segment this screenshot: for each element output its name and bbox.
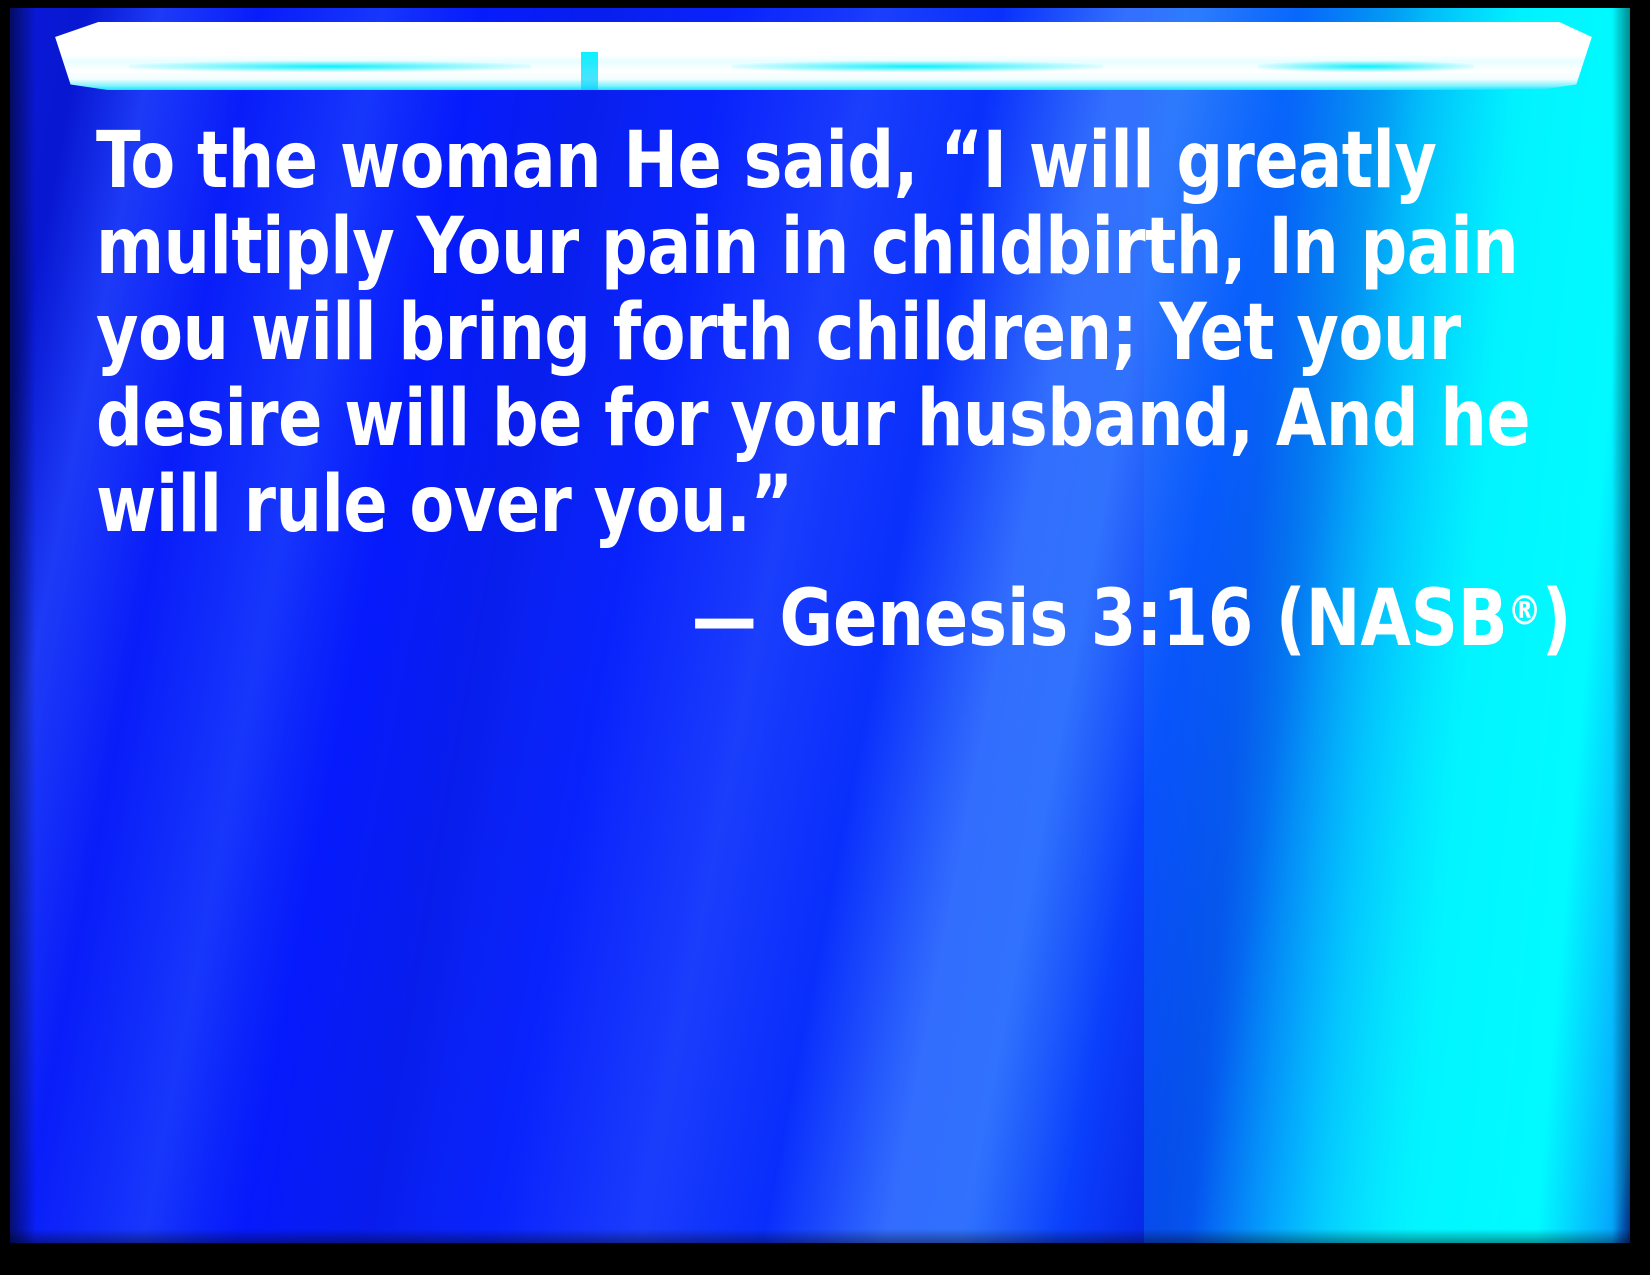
attribution-suffix: ) — [1542, 574, 1572, 664]
verse-line-3: you will bring forth children; Yet your — [96, 290, 1485, 376]
attribution-prefix: — Genesis 3:16 (NASB — [692, 574, 1508, 664]
verse-line-4: desire will be for your husband, And he — [96, 376, 1485, 462]
banner-glow-one — [129, 61, 531, 72]
registered-trademark-icon: ® — [1508, 587, 1542, 635]
verse-line-2: multiply Your pain in childbirth, In pai… — [96, 204, 1485, 290]
banner-glow-three — [1258, 61, 1474, 72]
artwork-panel: To the woman He said, “I will greatly mu… — [10, 8, 1630, 1243]
banner-glow-two — [732, 61, 1103, 72]
verse-line-1: To the woman He said, “I will greatly — [96, 118, 1485, 204]
verse-line-5: will rule over you.” — [96, 462, 1485, 548]
verse-text-block: To the woman He said, “I will greatly mu… — [96, 118, 1590, 662]
top-light-banner — [52, 22, 1598, 90]
banner-notch — [581, 52, 598, 91]
verse-attribution: — Genesis 3:16 (NASB®) — [201, 576, 1590, 662]
verse-slide: To the woman He said, “I will greatly mu… — [0, 0, 1650, 1275]
